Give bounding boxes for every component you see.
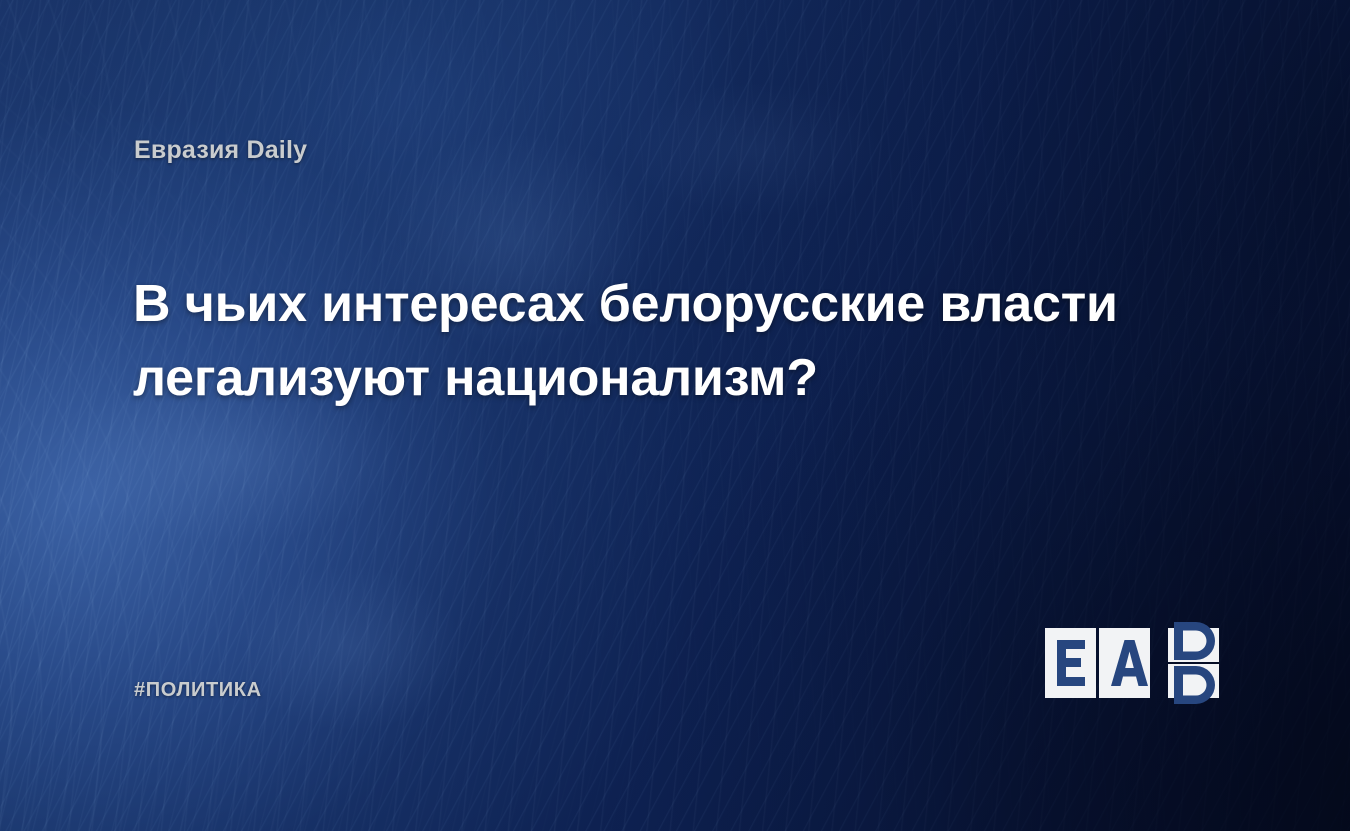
ead-logo (1044, 620, 1224, 710)
ead-logo-icon (1044, 620, 1224, 710)
social-share-card: Евразия Daily В чьих интересах белорусск… (0, 0, 1350, 831)
card-content: Евразия Daily В чьих интересах белорусск… (0, 0, 1350, 831)
publication-brand: Евразия Daily (134, 136, 307, 165)
headline-text: В чьих интересах белорусские власти лега… (133, 268, 1193, 416)
category-tag: #ПОЛИТИКА (134, 679, 262, 702)
